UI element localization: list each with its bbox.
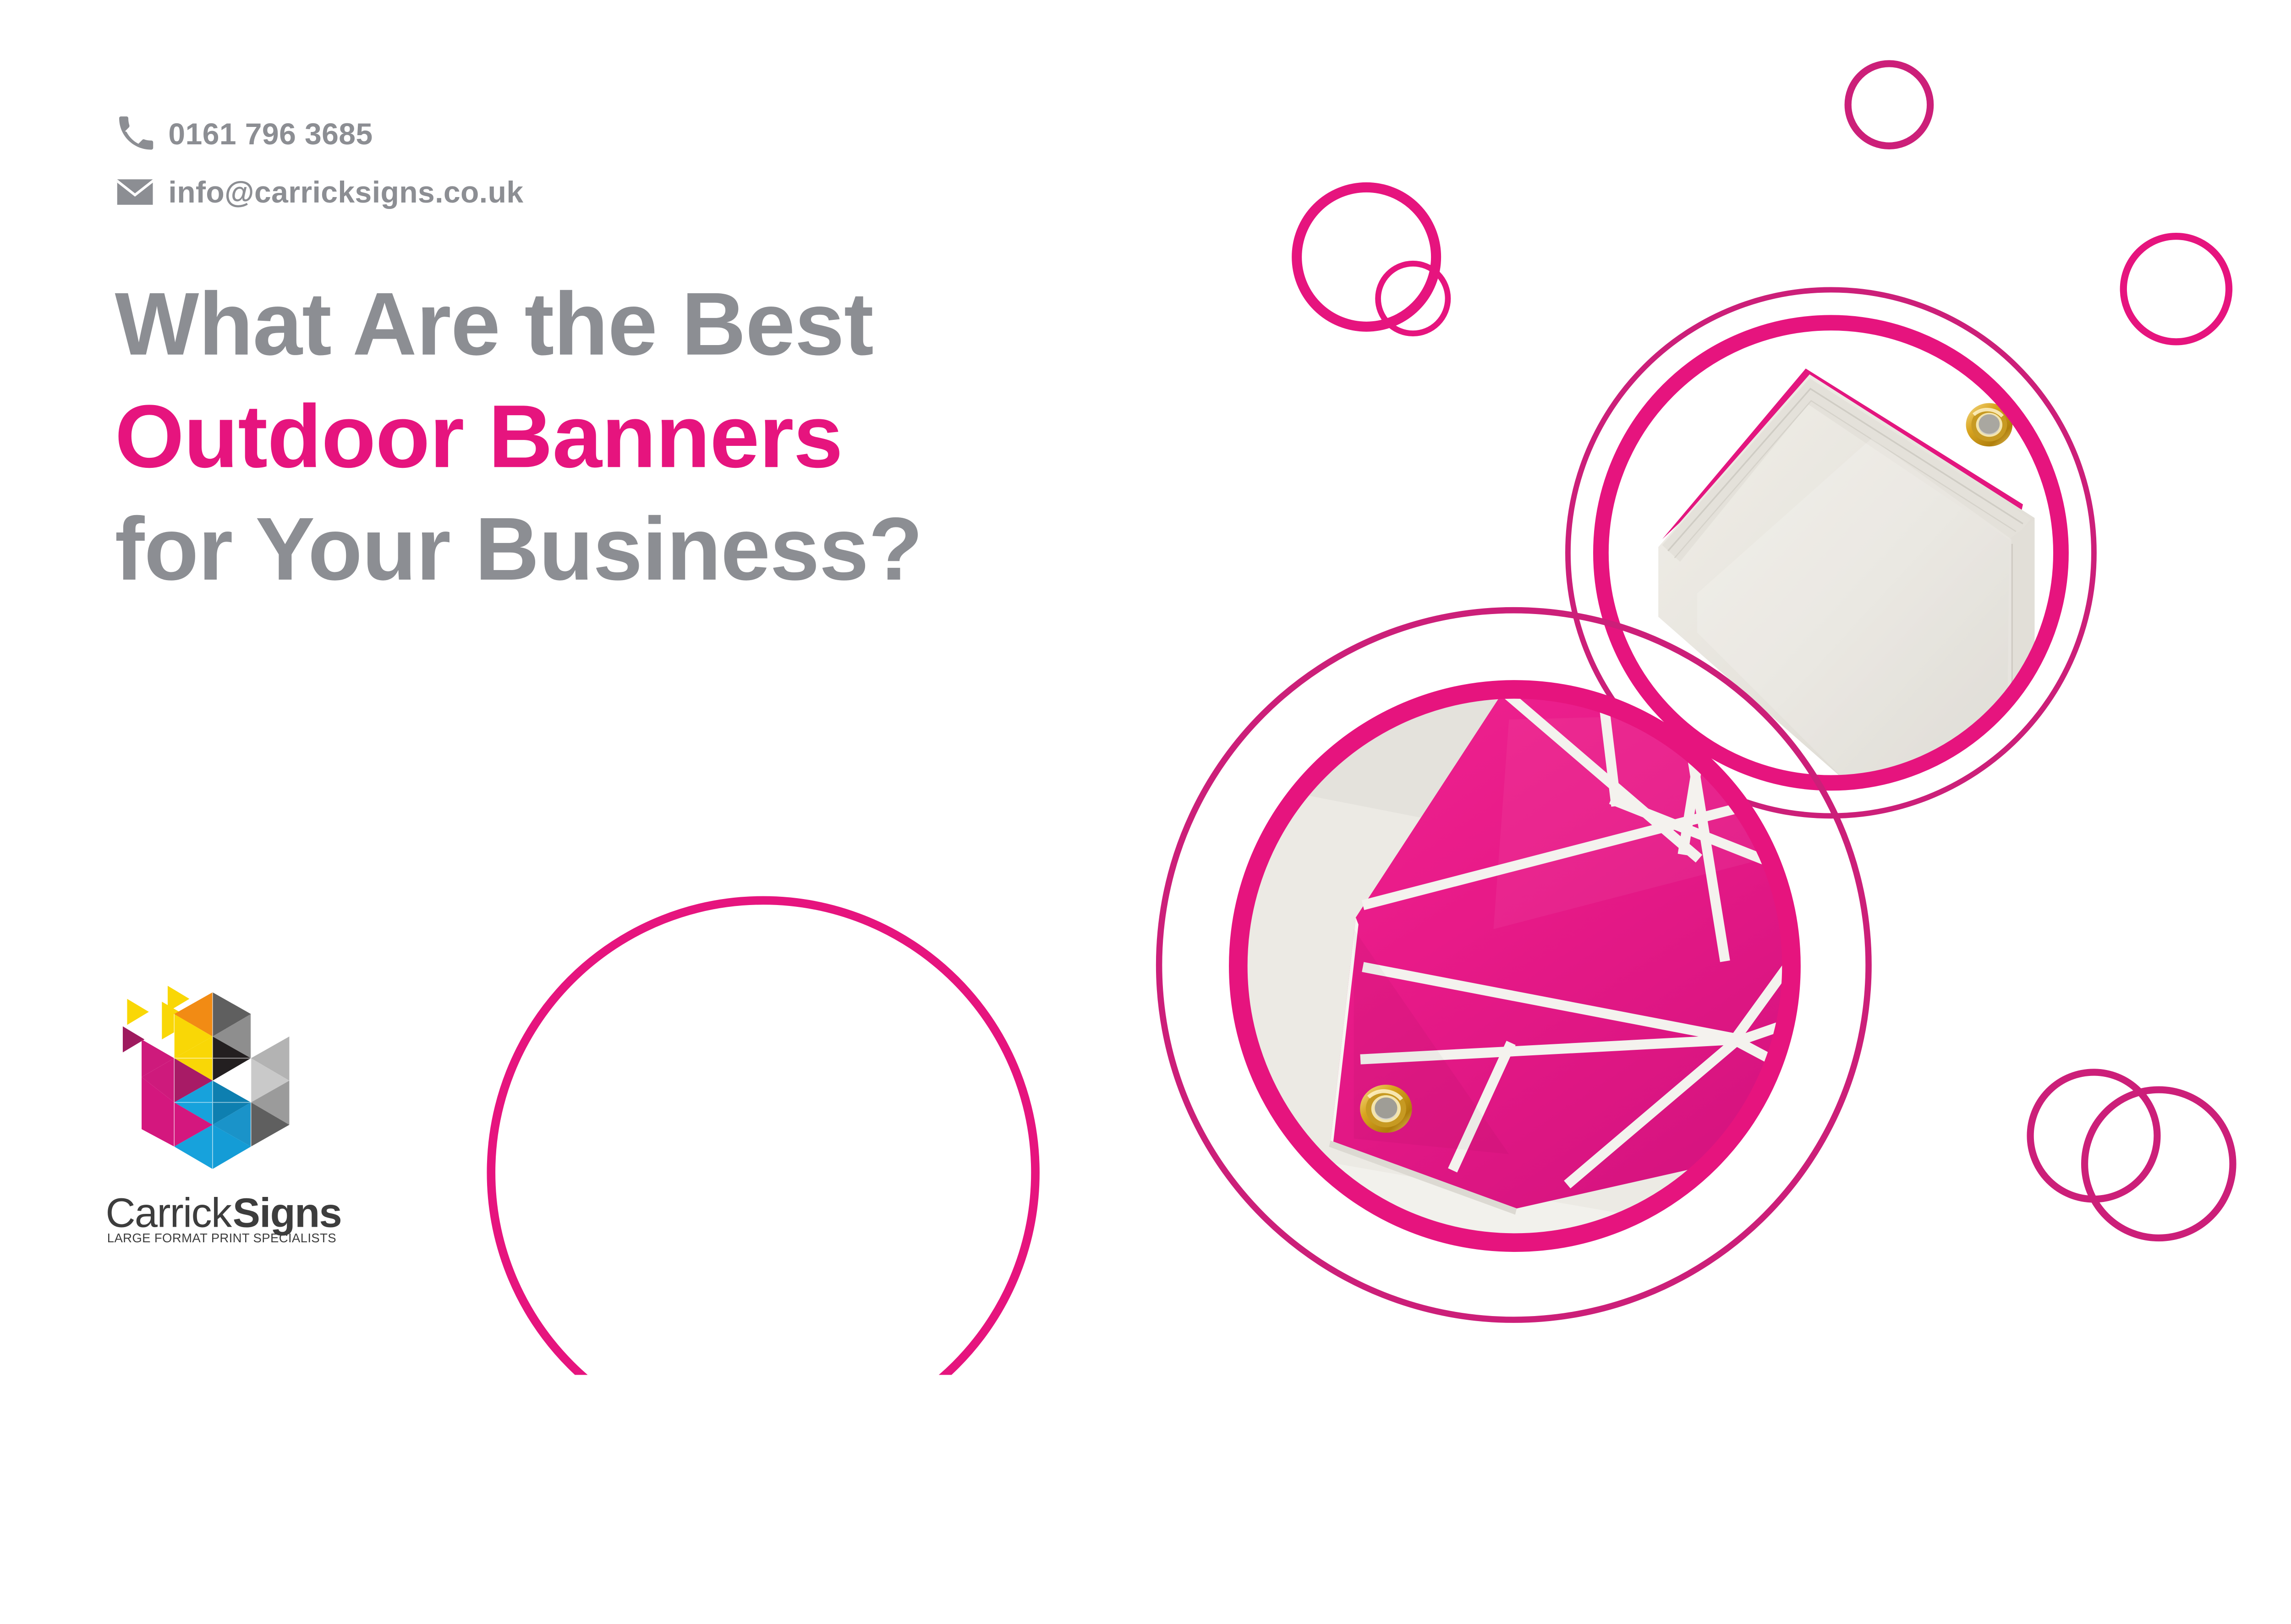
contact-block: 0161 796 3685 info@carricksigns.co.uk bbox=[116, 105, 524, 221]
svg-text:Signs: Signs bbox=[233, 1190, 341, 1236]
phone-icon bbox=[116, 115, 153, 152]
page-title: What Are the Best Outdoor Banners for Yo… bbox=[115, 268, 1221, 605]
ring-bottom-right-large bbox=[2081, 1086, 2236, 1241]
headline-line-3: for Your Business? bbox=[115, 493, 1221, 605]
headline-line-2: Outdoor Banners bbox=[115, 380, 1221, 492]
email-address: info@carricksigns.co.uk bbox=[168, 177, 523, 207]
phone-number: 0161 796 3685 bbox=[168, 119, 373, 149]
contact-phone-row[interactable]: 0161 796 3685 bbox=[116, 105, 524, 163]
ring-bottom-right-small bbox=[2027, 1069, 2160, 1202]
ring-top-right-small-b bbox=[2120, 233, 2233, 346]
svg-text:LARGE FORMAT PRINT SPECIALISTS: LARGE FORMAT PRINT SPECIALISTS bbox=[107, 1231, 336, 1245]
svg-text:Carrick: Carrick bbox=[105, 1190, 232, 1236]
logo-block[interactable]: Carrick Signs LARGE FORMAT PRINT SPECIAL… bbox=[104, 970, 345, 1246]
envelope-icon bbox=[116, 173, 153, 210]
logo-wordmark: Carrick Signs LARGE FORMAT PRINT SPECIAL… bbox=[104, 1189, 352, 1247]
banner-canvas: 0161 796 3685 info@carricksigns.co.uk Wh… bbox=[0, 0, 2291, 1375]
ring-upper-mid-large bbox=[1292, 182, 1441, 332]
pink-geometric-banner-photo bbox=[1238, 689, 1792, 1244]
contact-email-row[interactable]: info@carricksigns.co.uk bbox=[116, 163, 524, 221]
carrick-signs-cube-icon bbox=[104, 970, 321, 1187]
headline-line-1: What Are the Best bbox=[115, 268, 1221, 380]
ring-top-right-small-a bbox=[1845, 60, 1934, 149]
ring-upper-mid-small bbox=[1375, 261, 1451, 336]
ring-bottom-left-large bbox=[487, 896, 1039, 1375]
